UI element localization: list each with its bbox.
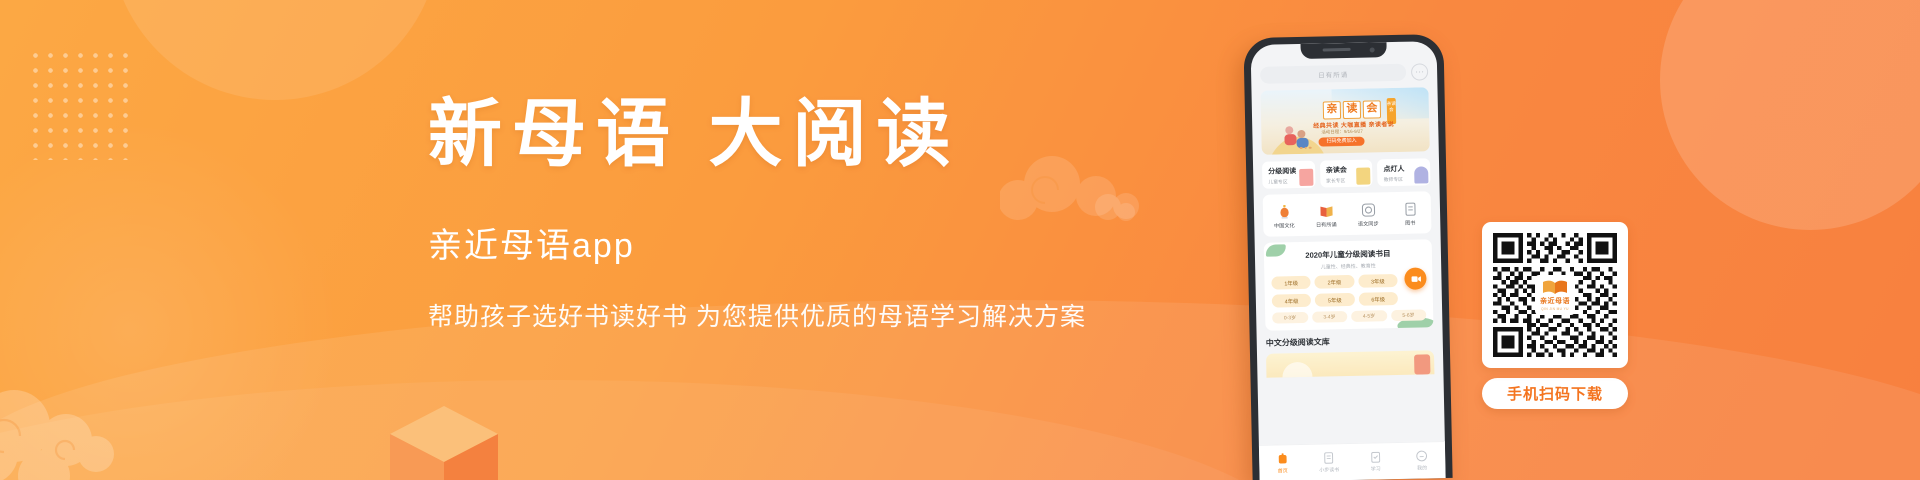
tab-label: 我的: [1417, 464, 1427, 471]
tab-home[interactable]: 首页: [1259, 452, 1306, 475]
hero-char: 会: [1363, 100, 1381, 118]
tagline: 帮助孩子选好书读好书 为您提供优质的母语学习解决方案: [428, 297, 1228, 333]
age-chip[interactable]: 5-6岁: [1391, 309, 1427, 321]
more-options-icon[interactable]: [1411, 63, 1428, 80]
grade-chip[interactable]: 3年级: [1358, 274, 1398, 288]
qr-download-block: 亲近母语 QIN JIN MU YU 手机扫码下载: [1482, 222, 1628, 409]
cloud-swirl-icon: [0, 384, 174, 480]
quick-nav-item[interactable]: 图书: [1389, 201, 1432, 227]
person-icon: [1414, 166, 1428, 183]
bottom-tab-bar: 首页 小步读书 学习: [1259, 441, 1446, 480]
quick-nav-label: 日有所诵: [1316, 221, 1337, 228]
age-chip[interactable]: 0-3岁: [1272, 312, 1308, 324]
reading-icon: [1322, 451, 1335, 464]
quick-nav-label: 图书: [1405, 220, 1416, 227]
app-name-subtitle: 亲近母语app: [428, 218, 1228, 267]
grade-chip[interactable]: 4年级: [1272, 294, 1312, 308]
quick-nav-item[interactable]: 中国文化: [1263, 204, 1306, 230]
quick-nav-label: 语文同步: [1358, 220, 1379, 227]
phone-screen: 日有所诵 亲 读 会 亲读会 经典共读: [1251, 41, 1446, 480]
decor-cube: [390, 406, 498, 480]
hero-char: 亲: [1323, 101, 1341, 119]
category-card[interactable]: 分级阅读 儿童专区: [1262, 161, 1315, 189]
qr-code: 亲近母语 QIN JIN MU YU: [1482, 222, 1628, 368]
tab-study[interactable]: 学习: [1352, 450, 1399, 473]
category-card-row: 分级阅读 儿童专区 亲读会 家长专区 点灯人 教师专区: [1262, 158, 1431, 189]
open-book-logo-icon: [1542, 280, 1568, 295]
decor-circle-top-left: [110, 0, 440, 100]
hero-banner-card[interactable]: 亲 读 会 亲读会 经典共读 大咖直播 亲读者说 活动日程：9/16-9/27 …: [1260, 87, 1429, 155]
hero-date: 活动日程：9/16-9/27: [1321, 129, 1363, 136]
library-section-title: 中文分级阅读文库: [1266, 334, 1434, 349]
tab-reading[interactable]: 小步读书: [1306, 451, 1353, 474]
booklist-card[interactable]: 2020年儿童分级阅读书目 儿童性、经典性、教育性 1年级 2年级 3年级 4年…: [1264, 239, 1434, 330]
age-chip[interactable]: 3-4岁: [1312, 311, 1348, 323]
phone-mockup: 日有所诵 亲 读 会 亲读会 经典共读: [1243, 34, 1452, 480]
tab-label: 首页: [1278, 467, 1288, 474]
copy-block: 新母语 大阅读 亲近母语app 帮助孩子选好书读好书 为您提供优质的母语学习解决…: [428, 96, 1228, 333]
quick-nav-label: 中国文化: [1274, 222, 1295, 229]
decor-glow-left: [0, 120, 340, 480]
library-card[interactable]: [1266, 350, 1434, 378]
note-icon: [1356, 168, 1370, 185]
bookmark-icon: [1299, 169, 1313, 186]
lantern-icon: [1276, 204, 1291, 219]
download-button[interactable]: 手机扫码下载: [1482, 378, 1628, 409]
study-icon: [1369, 450, 1382, 463]
grade-chip[interactable]: 2年级: [1315, 275, 1355, 289]
quick-nav-row: 中国文化 日有所诵 语文同步: [1263, 191, 1432, 237]
booklist-subtitle: 儿童性、经典性、教育性: [1271, 261, 1425, 271]
grade-chip[interactable]: 6年级: [1358, 292, 1398, 306]
home-icon: [1276, 452, 1289, 465]
carousel-dots[interactable]: [1300, 146, 1312, 149]
page-title: 新母语 大阅读: [428, 96, 1228, 174]
grade-chip[interactable]: 1年级: [1271, 276, 1311, 290]
qr-logo-text: 亲近母语: [1540, 296, 1570, 306]
decor-dot-grid: [28, 48, 133, 160]
quick-nav-item[interactable]: 日有所诵: [1305, 203, 1348, 229]
search-input[interactable]: 日有所诵: [1260, 64, 1406, 84]
tab-label: 小步读书: [1319, 466, 1339, 473]
booklist-title: 2020年儿童分级阅读书目: [1271, 247, 1425, 261]
promo-banner: 新母语 大阅读 亲近母语app 帮助孩子选好书读好书 为您提供优质的母语学习解决…: [0, 0, 1920, 480]
tab-profile[interactable]: 我的: [1399, 449, 1446, 472]
qr-center-logo: 亲近母语 QIN JIN MU YU: [1535, 275, 1575, 315]
hero-join-button[interactable]: 扫码免费加入: [1318, 137, 1364, 147]
hero-char: 读: [1343, 101, 1361, 119]
book-icon: [1402, 202, 1417, 217]
hero-title: 亲 读 会: [1323, 100, 1381, 119]
category-card[interactable]: 亲读会 家长专区: [1320, 159, 1373, 187]
category-card[interactable]: 点灯人 教师专区: [1377, 158, 1430, 186]
profile-icon: [1415, 449, 1428, 462]
book-open-icon: [1318, 203, 1333, 218]
quick-nav-item[interactable]: 语文同步: [1347, 202, 1390, 228]
age-chip[interactable]: 4-5岁: [1351, 310, 1387, 322]
decor-circle-top-right: [1660, 0, 1920, 230]
decor-hill-back: [0, 380, 1300, 480]
sync-icon: [1360, 202, 1375, 217]
tab-label: 学习: [1371, 465, 1381, 472]
play-video-icon[interactable]: [1404, 267, 1426, 289]
grade-chip-row: 4年级 5年级 6年级: [1272, 291, 1426, 307]
qr-logo-subtext: QIN JIN MU YU: [1541, 307, 1569, 311]
grade-chip[interactable]: 5年级: [1315, 293, 1355, 307]
phone-notch: [1301, 42, 1387, 59]
grade-chip-row: 1年级 2年级 3年级: [1271, 273, 1425, 289]
